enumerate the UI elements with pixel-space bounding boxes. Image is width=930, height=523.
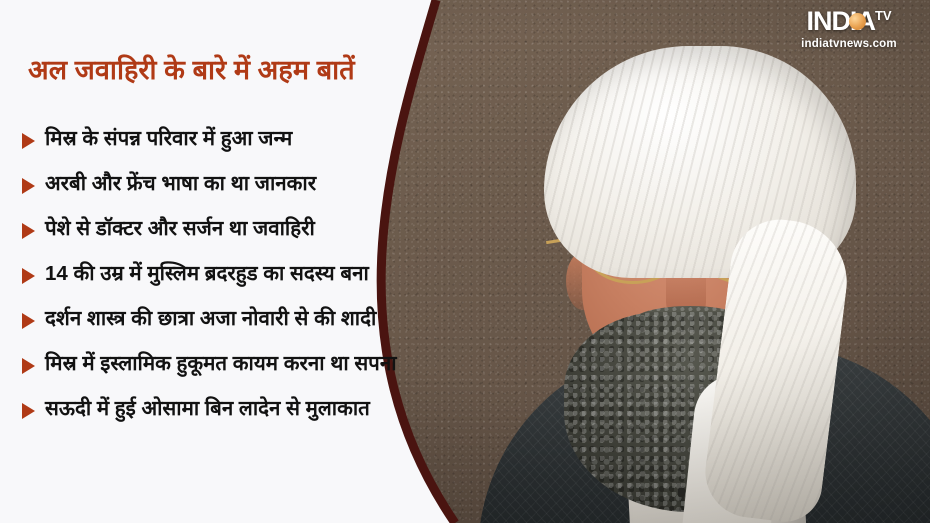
list-item-label: मिस्र में इस्लामिक हुकूमत कायम करना था स…: [45, 351, 397, 377]
triangle-right-icon: [22, 313, 35, 329]
logo-website: indiatvnews.com: [784, 38, 914, 50]
list-item: 14 की उम्र में मुस्लिम ब्रदरहुड का सदस्य…: [22, 261, 472, 306]
list-item: मिस्र में इस्लामिक हुकूमत कायम करना था स…: [22, 351, 472, 396]
triangle-right-icon: [22, 178, 35, 194]
list-item-label: सऊदी में हुई ओसामा बिन लादेन से मुलाकात: [45, 396, 370, 422]
list-item: मिस्र के संपन्न परिवार में हुआ जन्म: [22, 126, 472, 171]
panel-content: अल जवाहिरी के बारे में अहम बातें मिस्र क…: [0, 0, 470, 523]
page-title: अल जवाहिरी के बारे में अहम बातें: [28, 50, 355, 87]
list-item: दर्शन शास्त्र की छात्रा अजा नोवारी से की…: [22, 306, 472, 351]
key-facts-list: मिस्र के संपन्न परिवार में हुआ जन्म अरबी…: [22, 126, 472, 441]
list-item: सऊदी में हुई ओसामा बिन लादेन से मुलाकात: [22, 396, 472, 441]
triangle-right-icon: [22, 403, 35, 419]
list-item-label: अरबी और फ्रेंच भाषा का था जानकार: [45, 171, 316, 197]
list-item: पेशे से डॉक्टर और सर्जन था जवाहिरी: [22, 216, 472, 261]
triangle-right-icon: [22, 358, 35, 374]
list-item-label: 14 की उम्र में मुस्लिम ब्रदरहुड का सदस्य…: [45, 261, 369, 287]
news-graphic-card: अल जवाहिरी के बारे में अहम बातें मिस्र क…: [0, 0, 930, 523]
triangle-right-icon: [22, 133, 35, 149]
channel-logo: INDIATV indiatvnews.com: [784, 8, 914, 56]
logo-wordmark: INDIATV: [806, 8, 891, 35]
logo-suffix: TV: [875, 8, 892, 23]
list-item: अरबी और फ्रेंच भाषा का था जानकार: [22, 171, 472, 216]
list-item-label: मिस्र के संपन्न परिवार में हुआ जन्म: [45, 126, 292, 152]
triangle-right-icon: [22, 268, 35, 284]
list-item-label: दर्शन शास्त्र की छात्रा अजा नोवारी से की…: [45, 306, 376, 332]
triangle-right-icon: [22, 223, 35, 239]
list-item-label: पेशे से डॉक्टर और सर्जन था जवाहिरी: [45, 216, 315, 242]
